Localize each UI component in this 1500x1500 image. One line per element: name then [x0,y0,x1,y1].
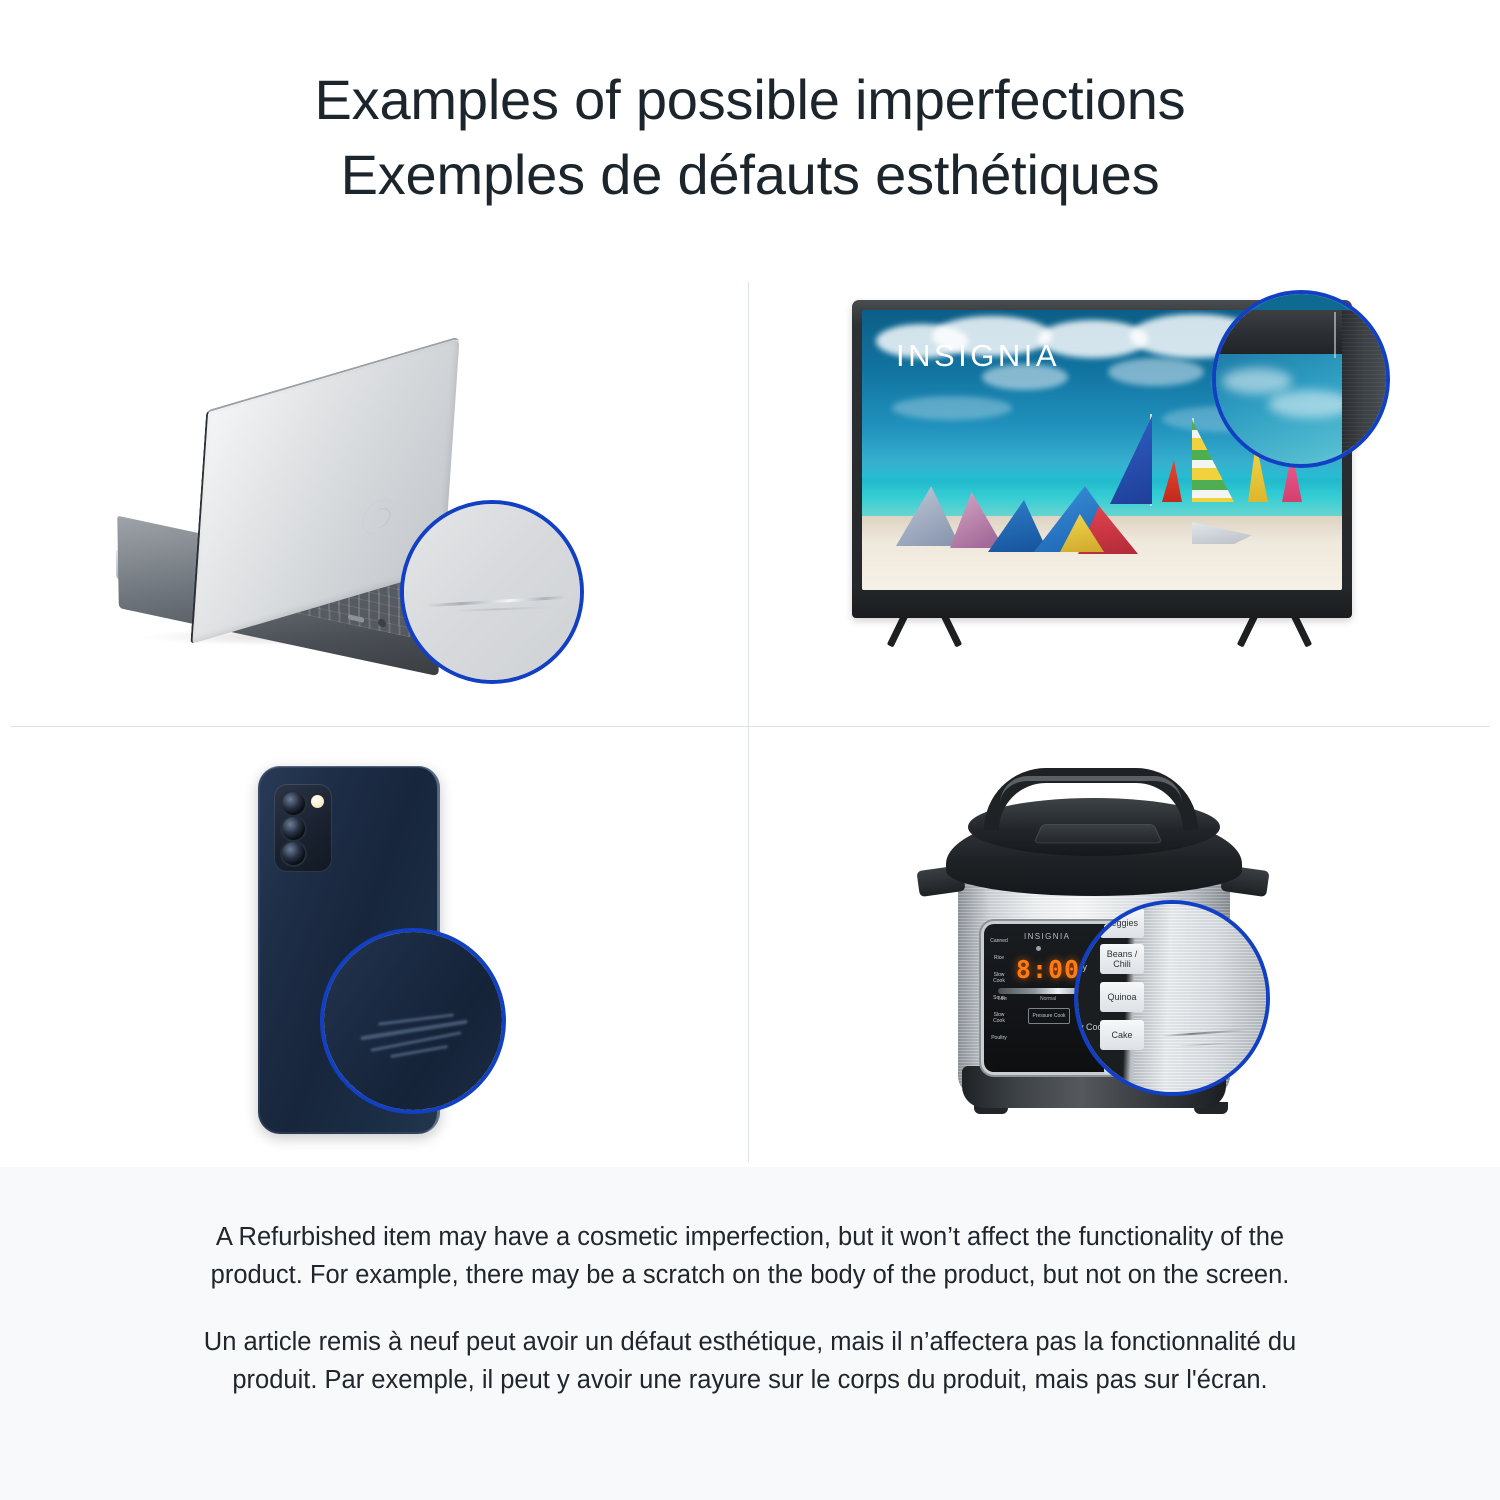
camera-flash-icon [311,795,324,808]
cooker-button[interactable]: Soup [988,995,1010,1001]
magnifier-tv-surface [1216,294,1386,464]
cloud-shape [892,396,1012,420]
panel-television: INSIGNIA [752,272,1500,726]
footer-description: A Refurbished item may have a cosmetic i… [0,1167,1500,1500]
cloud-shape [1268,390,1352,418]
page-title-english: Examples of possible imperfections [0,62,1500,137]
bezel-texture [1342,310,1390,468]
panel-smartphone [0,728,748,1182]
slider-label-normal: Normal [1040,996,1056,1002]
product-examples-grid: INSIGNIA [0,272,1500,1167]
magnified-cooker-button: Beans / Chili [1100,944,1144,974]
cooker-button[interactable]: Slow Cook [988,1012,1010,1024]
magnifier-phone-surface [324,932,502,1110]
magnifier-phone-scratches [320,928,506,1114]
panel-laptop [0,272,748,726]
smartphone-image [258,766,498,1146]
magnifier-laptop-scratch [400,500,584,684]
scratch-mark [360,1020,467,1041]
page-title-french: Exemples de défauts esthétiques [0,137,1500,212]
footer-paragraph-french: Un article remis à neuf peut avoir un dé… [170,1324,1330,1399]
cooker-button[interactable]: Canned [988,938,1010,944]
magnified-cooker-button: Cake [1100,1020,1144,1050]
cooker-left-button-column: Canned Rice Slow Cook Soup Slow Cook Pou… [988,938,1010,1052]
camera-lens-icon [282,842,305,865]
indicator-dot [1036,946,1041,951]
footer-paragraph-english: A Refurbished item may have a cosmetic i… [170,1219,1330,1294]
magnified-cooker-button: Quinoa [1100,982,1144,1012]
cooker-display: 8:00 [1014,956,1082,982]
cooker-display-value: 8:00 [1016,955,1080,984]
camera-lens-icon [282,792,305,815]
grid-horizontal-divider [10,726,1490,727]
pressure-cooker-image: INSIGNIA 8:00 Low Normal More Pressure C… [922,748,1312,1148]
refurbished-imperfections-infographic: Examples of possible imperfections Exemp… [0,0,1500,1500]
scratch-mark [452,606,556,612]
sailboat-sail-blue [1110,416,1152,504]
cooker-button[interactable]: Slow Cook [988,972,1010,984]
brushed-steel-texture [1134,904,1270,1096]
scratch-mark [426,596,566,608]
page-title: Examples of possible imperfections Exemp… [0,62,1500,212]
handle-highlight [1000,776,1182,804]
cooker-button[interactable]: Rice [988,955,1010,961]
magnifier-cooker-surface: Delay Slow Cook Veggies Beans / Chili Qu… [1078,904,1266,1092]
magnifier-tv-bezel-scuff [1212,290,1390,468]
camera-module [274,784,332,872]
cooker-button[interactable]: Poultry [988,1035,1010,1041]
cloud-shape [1108,358,1204,386]
scratch-mark [390,1045,448,1058]
laptop-image [110,372,530,672]
scuff-mark [1334,312,1336,358]
tv-screen-brand-text: INSIGNIA [896,338,1060,374]
cooker-brand-label: INSIGNIA [1024,932,1070,941]
television-image: INSIGNIA [852,300,1372,680]
cooker-mode-button[interactable]: Pressure Cook [1028,1008,1070,1024]
magnifier-laptop-surface [404,504,580,680]
magnified-cooker-button: Veggies [1100,908,1144,938]
camera-lens-icon [282,817,305,840]
magnifier-cooker-scratch: Delay Slow Cook Veggies Beans / Chili Qu… [1074,900,1270,1096]
panel-pressure-cooker: INSIGNIA 8:00 Low Normal More Pressure C… [752,728,1500,1182]
cloud-shape [1222,368,1292,394]
grid-vertical-divider [748,282,749,1162]
